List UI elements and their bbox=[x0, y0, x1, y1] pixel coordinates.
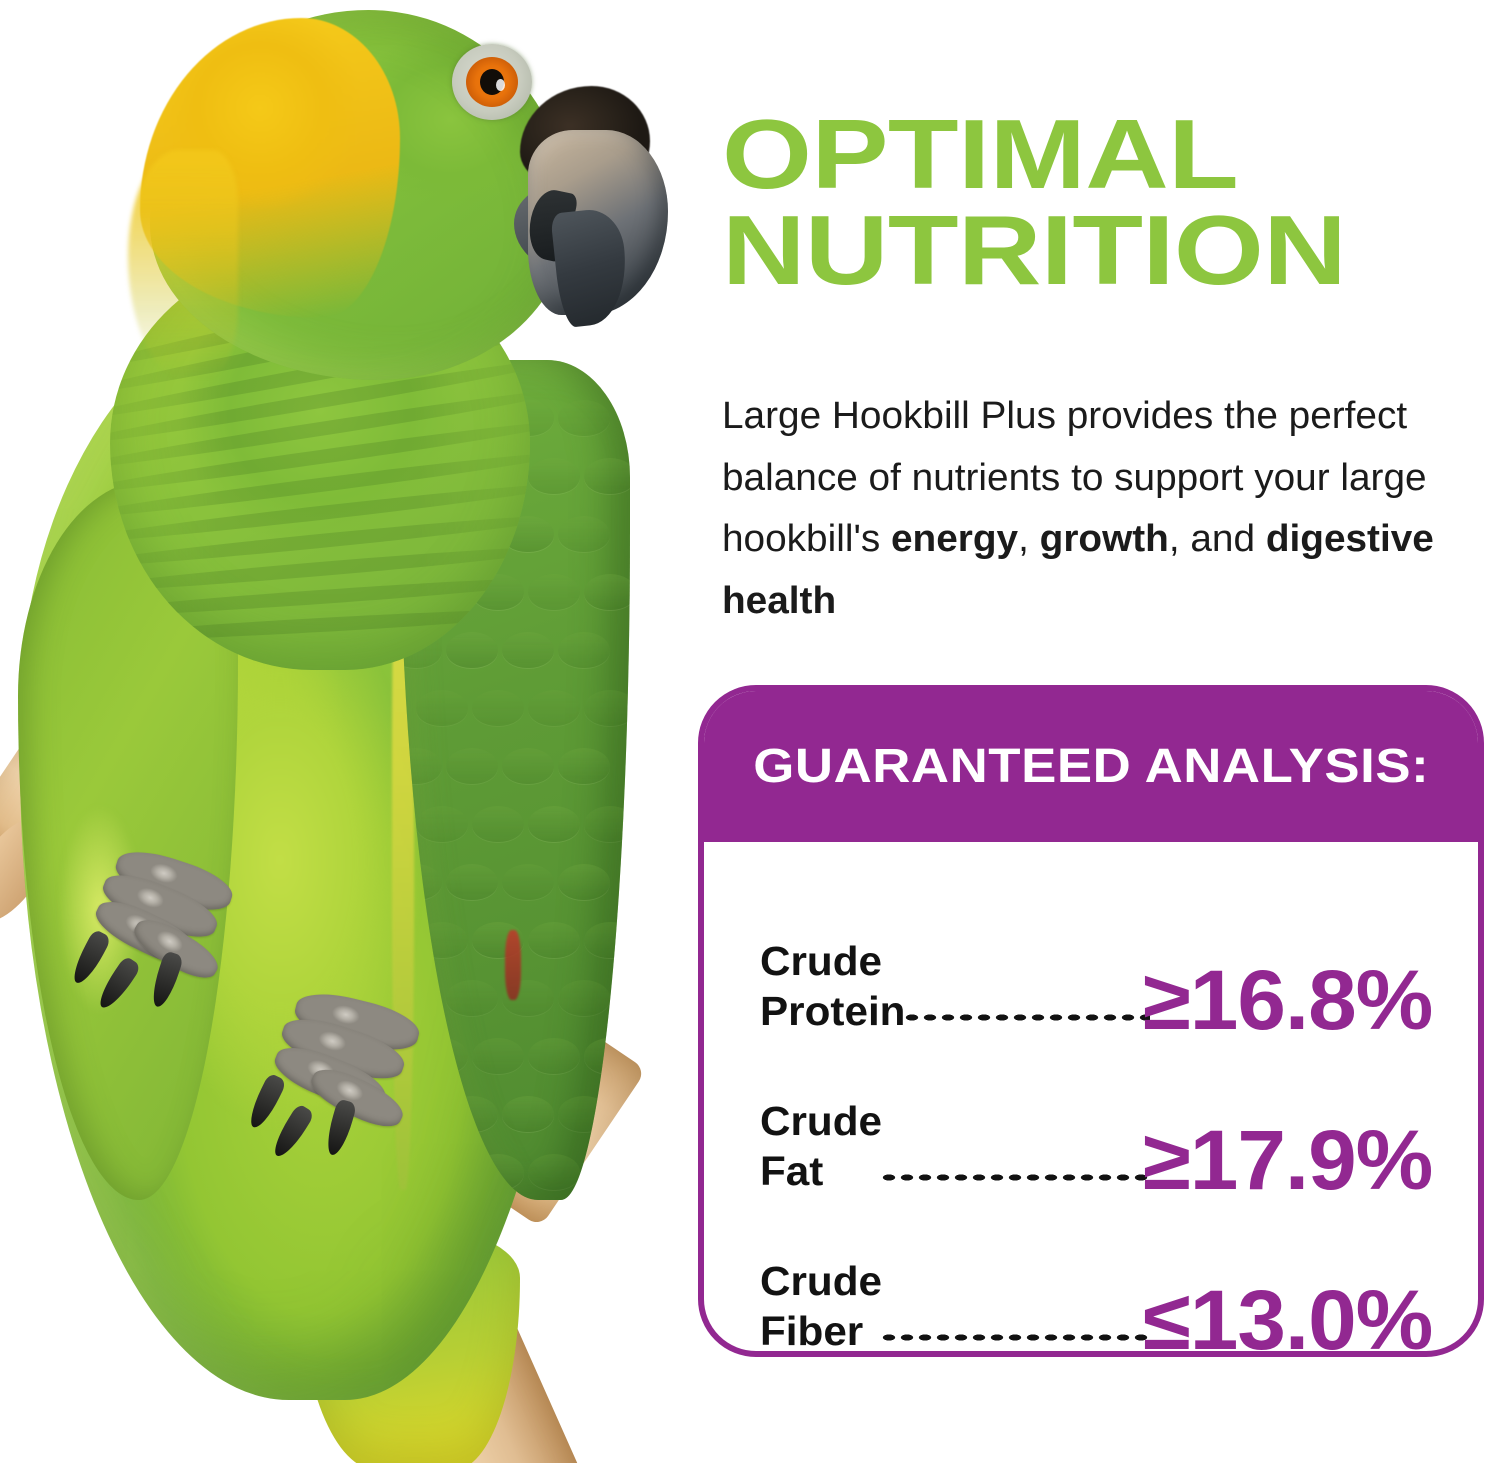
dot-leader bbox=[880, 1173, 1149, 1182]
headline-line-2: NUTRITION bbox=[722, 202, 1500, 298]
parrot-red-feather-fleck bbox=[505, 930, 521, 1000]
description-part-3: , and bbox=[1169, 518, 1266, 560]
guaranteed-analysis-row: CrudeFat ≥17.9% bbox=[760, 1044, 1432, 1204]
parrot-illustration bbox=[0, 0, 700, 1463]
parrot-claw bbox=[148, 950, 184, 1009]
dot-leader bbox=[903, 1013, 1149, 1022]
description-paragraph: Large Hookbill Plus provides the perfect… bbox=[722, 386, 1456, 632]
parrot-pupil bbox=[480, 69, 504, 95]
nutrient-label-line-1: Crude bbox=[760, 938, 882, 984]
guaranteed-analysis-header: GUARANTEED ANALYSIS: bbox=[704, 691, 1478, 842]
nutrient-label-line-2: Fat bbox=[760, 1146, 882, 1196]
nutrient-label-line-1: Crude bbox=[760, 1258, 882, 1304]
description-bold-energy: energy bbox=[891, 518, 1018, 560]
parrot-claw bbox=[323, 1098, 358, 1157]
guaranteed-analysis-rows: CrudeProtein≥16.8%CrudeFat ≥17.9%CrudeFi… bbox=[704, 842, 1478, 1357]
headline-line-1: OPTIMAL bbox=[722, 106, 1500, 202]
nutrient-label: CrudeProtein bbox=[760, 936, 905, 1044]
dot-leader bbox=[880, 1333, 1149, 1342]
parrot-photo bbox=[0, 0, 700, 1463]
nutrient-value: ≥16.8% bbox=[1143, 958, 1432, 1044]
nutrient-label-line-2: Fiber bbox=[760, 1306, 882, 1356]
parrot-claw bbox=[94, 955, 142, 1013]
parrot-lower-foot bbox=[268, 1000, 478, 1180]
content-column: OPTIMAL NUTRITION Large Hookbill Plus pr… bbox=[700, 0, 1500, 1463]
guaranteed-analysis-row: CrudeFiber≤13.0% bbox=[760, 1204, 1432, 1357]
description-bold-growth: growth bbox=[1040, 518, 1169, 560]
nutrient-label-line-2: Protein bbox=[760, 986, 905, 1036]
guaranteed-analysis-row: CrudeProtein≥16.8% bbox=[760, 884, 1432, 1044]
eye-glint bbox=[496, 79, 505, 91]
nutrient-label: CrudeFat bbox=[760, 1096, 882, 1204]
page-title: OPTIMAL NUTRITION bbox=[722, 106, 1500, 298]
infographic-canvas: OPTIMAL NUTRITION Large Hookbill Plus pr… bbox=[0, 0, 1500, 1463]
nutrient-value: ≤13.0% bbox=[1143, 1278, 1432, 1357]
guaranteed-analysis-title: GUARANTEED ANALYSIS: bbox=[753, 739, 1429, 794]
nutrient-value: ≥17.9% bbox=[1143, 1118, 1432, 1204]
parrot-claw bbox=[269, 1103, 316, 1161]
parrot-iris bbox=[466, 57, 518, 107]
nutrient-label-line-1: Crude bbox=[760, 1098, 882, 1144]
nutrient-label: CrudeFiber bbox=[760, 1256, 882, 1357]
description-part-2: , bbox=[1018, 518, 1040, 560]
parrot-eye bbox=[452, 44, 532, 120]
guaranteed-analysis-panel: GUARANTEED ANALYSIS: CrudeProtein≥16.8%C… bbox=[698, 685, 1484, 1357]
